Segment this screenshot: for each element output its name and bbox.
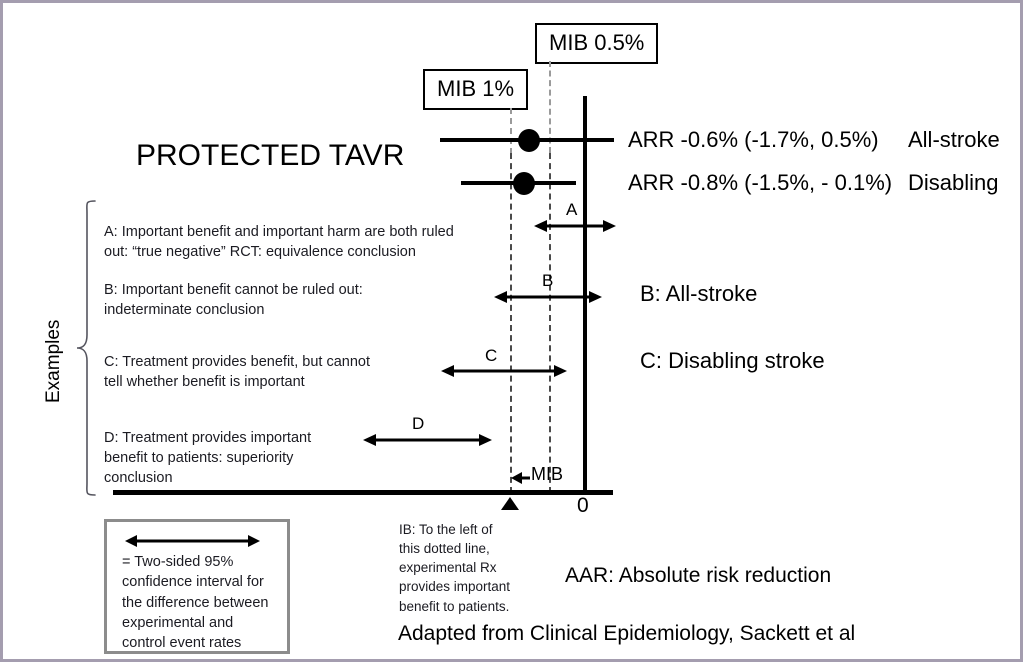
axis-zero-label: 0 <box>577 494 589 518</box>
example-a-line1: A: Important benefit and important harm … <box>104 222 484 242</box>
example-b-description: B: Important benefit cannot be ruled out… <box>104 280 484 320</box>
outcome-label-all-stroke: All-stroke <box>908 127 1000 153</box>
example-c-line1: C: Treatment provides benefit, but canno… <box>104 352 484 372</box>
ib-note: IB: To the left of this dotted line, exp… <box>399 520 549 616</box>
example-b-line2: indeterminate conclusion <box>104 300 484 320</box>
example-arrow-c <box>441 362 567 380</box>
callout-mib-1pct-label: MIB 1% <box>437 76 514 101</box>
legend-line2: confidence interval for <box>122 572 287 592</box>
callout-mib-05pct-label: MIB 0.5% <box>549 30 644 55</box>
figure-canvas: MIB 1% MIB 0.5% PROTECTED TAVR ARR -0.6%… <box>0 0 1023 662</box>
aar-legend: AAR: Absolute risk reduction <box>565 564 831 588</box>
legend-line3: the difference between <box>122 593 287 613</box>
attribution: Adapted from Clinical Epidemiology, Sack… <box>398 622 855 646</box>
point-estimate-all-stroke <box>518 129 540 152</box>
examples-brace <box>75 199 97 502</box>
mib-marker-arrow <box>511 470 531 486</box>
page-title: PROTECTED TAVR <box>136 139 404 173</box>
mib-triangle-marker <box>501 497 519 510</box>
example-arrow-a <box>534 217 616 235</box>
ib-note-line3: experimental Rx <box>399 558 549 577</box>
outcome-label-disabling: Disabling <box>908 170 999 196</box>
legend-arrow-icon <box>125 533 260 549</box>
example-arrow-b <box>494 288 602 306</box>
mib-marker-label: MIB <box>531 464 563 485</box>
callout-mib-1pct: MIB 1% <box>423 69 528 110</box>
example-b-line1: B: Important benefit cannot be ruled out… <box>104 280 484 300</box>
reference-line-mib-1pct <box>510 153 512 493</box>
example-d-line3: conclusion <box>104 468 484 488</box>
example-c-description: C: Treatment provides benefit, but canno… <box>104 352 484 392</box>
annotation-b-all-stroke: B: All-stroke <box>640 281 757 307</box>
axis-baseline <box>113 490 613 495</box>
point-estimate-disabling <box>513 172 535 195</box>
ib-note-line5: benefit to patients. <box>399 597 549 616</box>
examples-bracket-label: Examples <box>43 320 65 403</box>
legend-line1: = Two-sided 95% <box>122 552 287 572</box>
example-c-line2: tell whether benefit is important <box>104 372 484 392</box>
ib-note-line4: provides important <box>399 577 549 596</box>
result-text-disabling: ARR -0.8% (-1.5%, - 0.1%) <box>628 170 892 196</box>
callout-mib-05pct: MIB 0.5% <box>535 23 658 64</box>
callout-mib-1pct-leader <box>510 108 512 154</box>
legend-line4: experimental and <box>122 613 287 633</box>
example-a-description: A: Important benefit and important harm … <box>104 222 484 262</box>
example-d-line2: benefit to patients: superiority <box>104 448 484 468</box>
ib-note-line2: this dotted line, <box>399 539 549 558</box>
annotation-c-disabling-stroke: C: Disabling stroke <box>640 348 825 374</box>
example-arrow-d <box>363 431 492 449</box>
legend-box: = Two-sided 95% confidence interval for … <box>104 519 290 654</box>
example-a-line2: out: “true negative” RCT: equivalence co… <box>104 242 484 262</box>
legend-description: = Two-sided 95% confidence interval for … <box>122 552 287 653</box>
legend-line5: control event rates <box>122 633 287 653</box>
result-text-all-stroke: ARR -0.6% (-1.7%, 0.5%) <box>628 127 879 153</box>
reference-line-mib-05pct <box>549 153 551 493</box>
ib-note-line1: IB: To the left of <box>399 520 549 539</box>
